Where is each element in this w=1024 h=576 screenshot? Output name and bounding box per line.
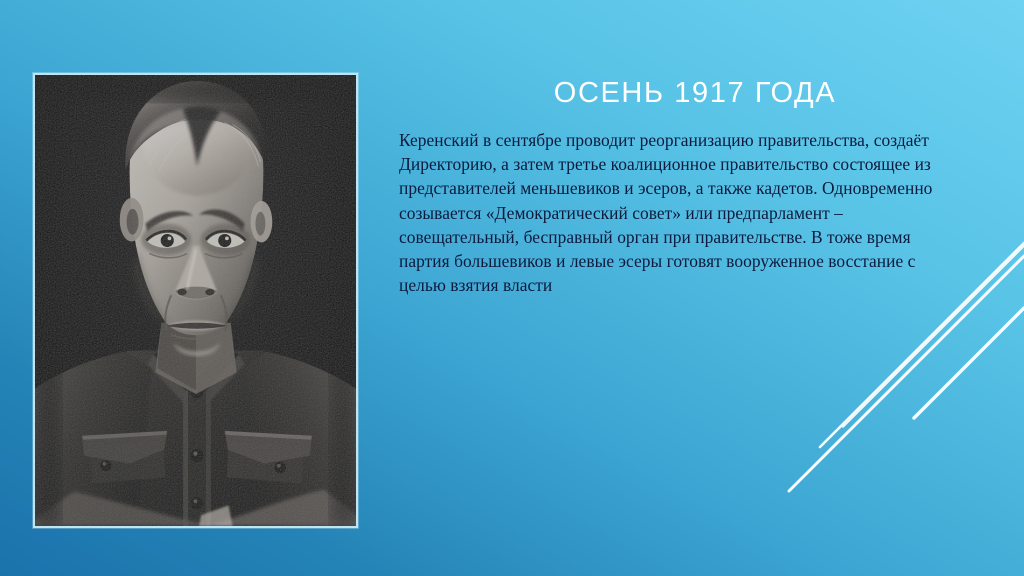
portrait-photo bbox=[35, 75, 356, 526]
portrait-photo-frame bbox=[33, 73, 358, 528]
presentation-slide: ОСЕНЬ 1917 ГОДА Керенский в сентябре про… bbox=[0, 0, 1024, 576]
slide-body-text: Керенский в сентябре проводит реорганиза… bbox=[399, 128, 959, 297]
slide-title: ОСЕНЬ 1917 ГОДА bbox=[390, 78, 1000, 110]
streak-line-4 bbox=[914, 308, 1024, 418]
